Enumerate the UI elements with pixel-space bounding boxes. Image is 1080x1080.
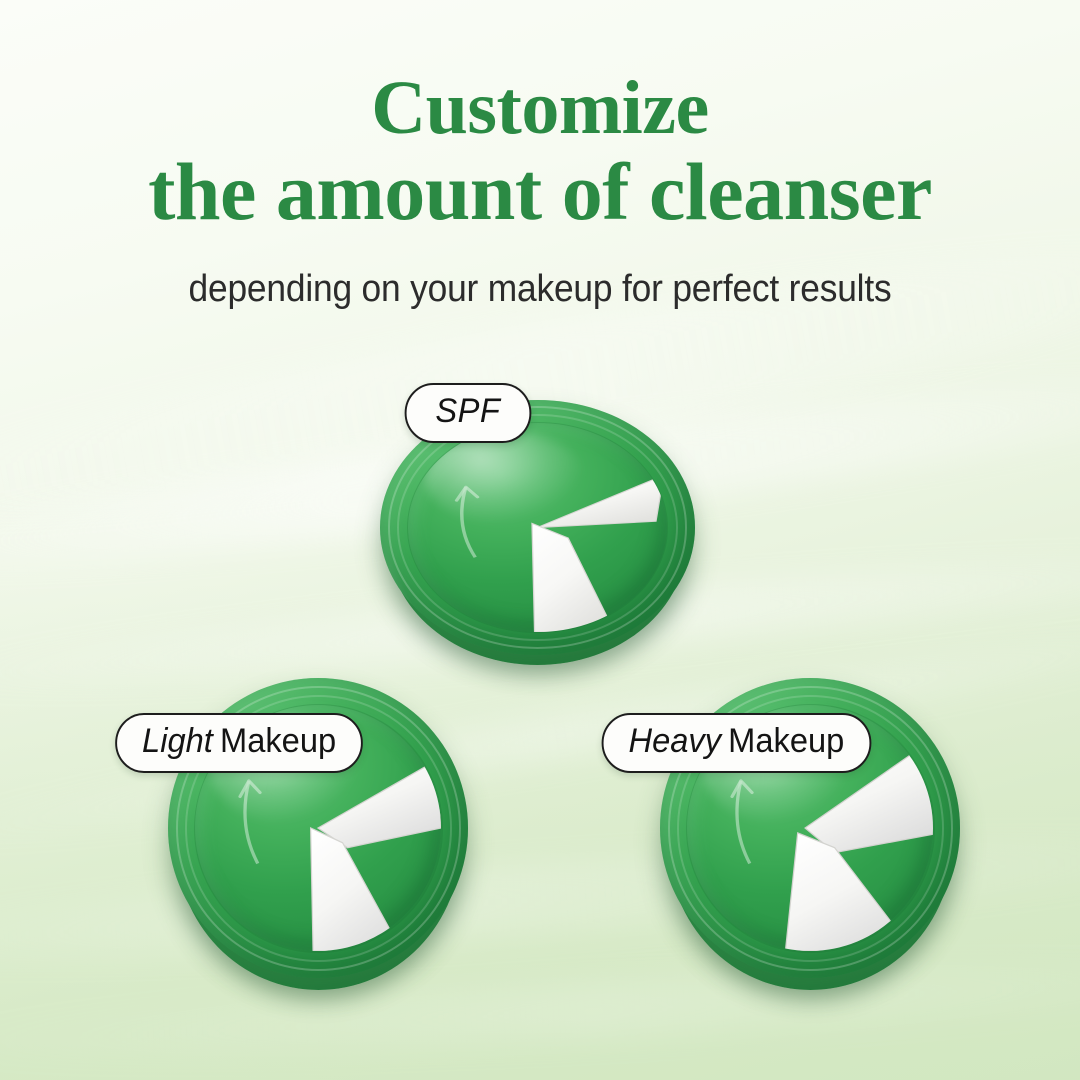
label-light-makeup[interactable]: Light Makeup — [115, 713, 363, 773]
label-heavy-makeup[interactable]: Heavy Makeup — [602, 713, 872, 773]
page-subtitle: depending on your makeup for perfect res… — [38, 268, 1042, 311]
label-spf-emphasis: SPF — [435, 392, 500, 431]
page-title: Customize the amount of cleanser — [0, 72, 1080, 231]
open-arrow-icon — [445, 477, 491, 561]
open-arrow-icon — [229, 769, 273, 867]
headline-line-1: Customize — [0, 72, 1080, 146]
label-light-rest: Makeup — [220, 722, 336, 761]
lid-face — [408, 423, 666, 632]
promo-graphic: Customize the amount of cleanser dependi… — [0, 0, 1080, 1080]
label-heavy-emphasis: Heavy — [628, 722, 721, 761]
label-light-emphasis: Light — [142, 722, 213, 761]
label-spf[interactable]: SPF — [405, 383, 531, 443]
lid-highlight — [424, 431, 584, 523]
open-arrow-icon — [721, 769, 765, 867]
headline-line-2: the amount of cleanser — [0, 152, 1080, 232]
label-heavy-rest: Makeup — [728, 722, 844, 761]
